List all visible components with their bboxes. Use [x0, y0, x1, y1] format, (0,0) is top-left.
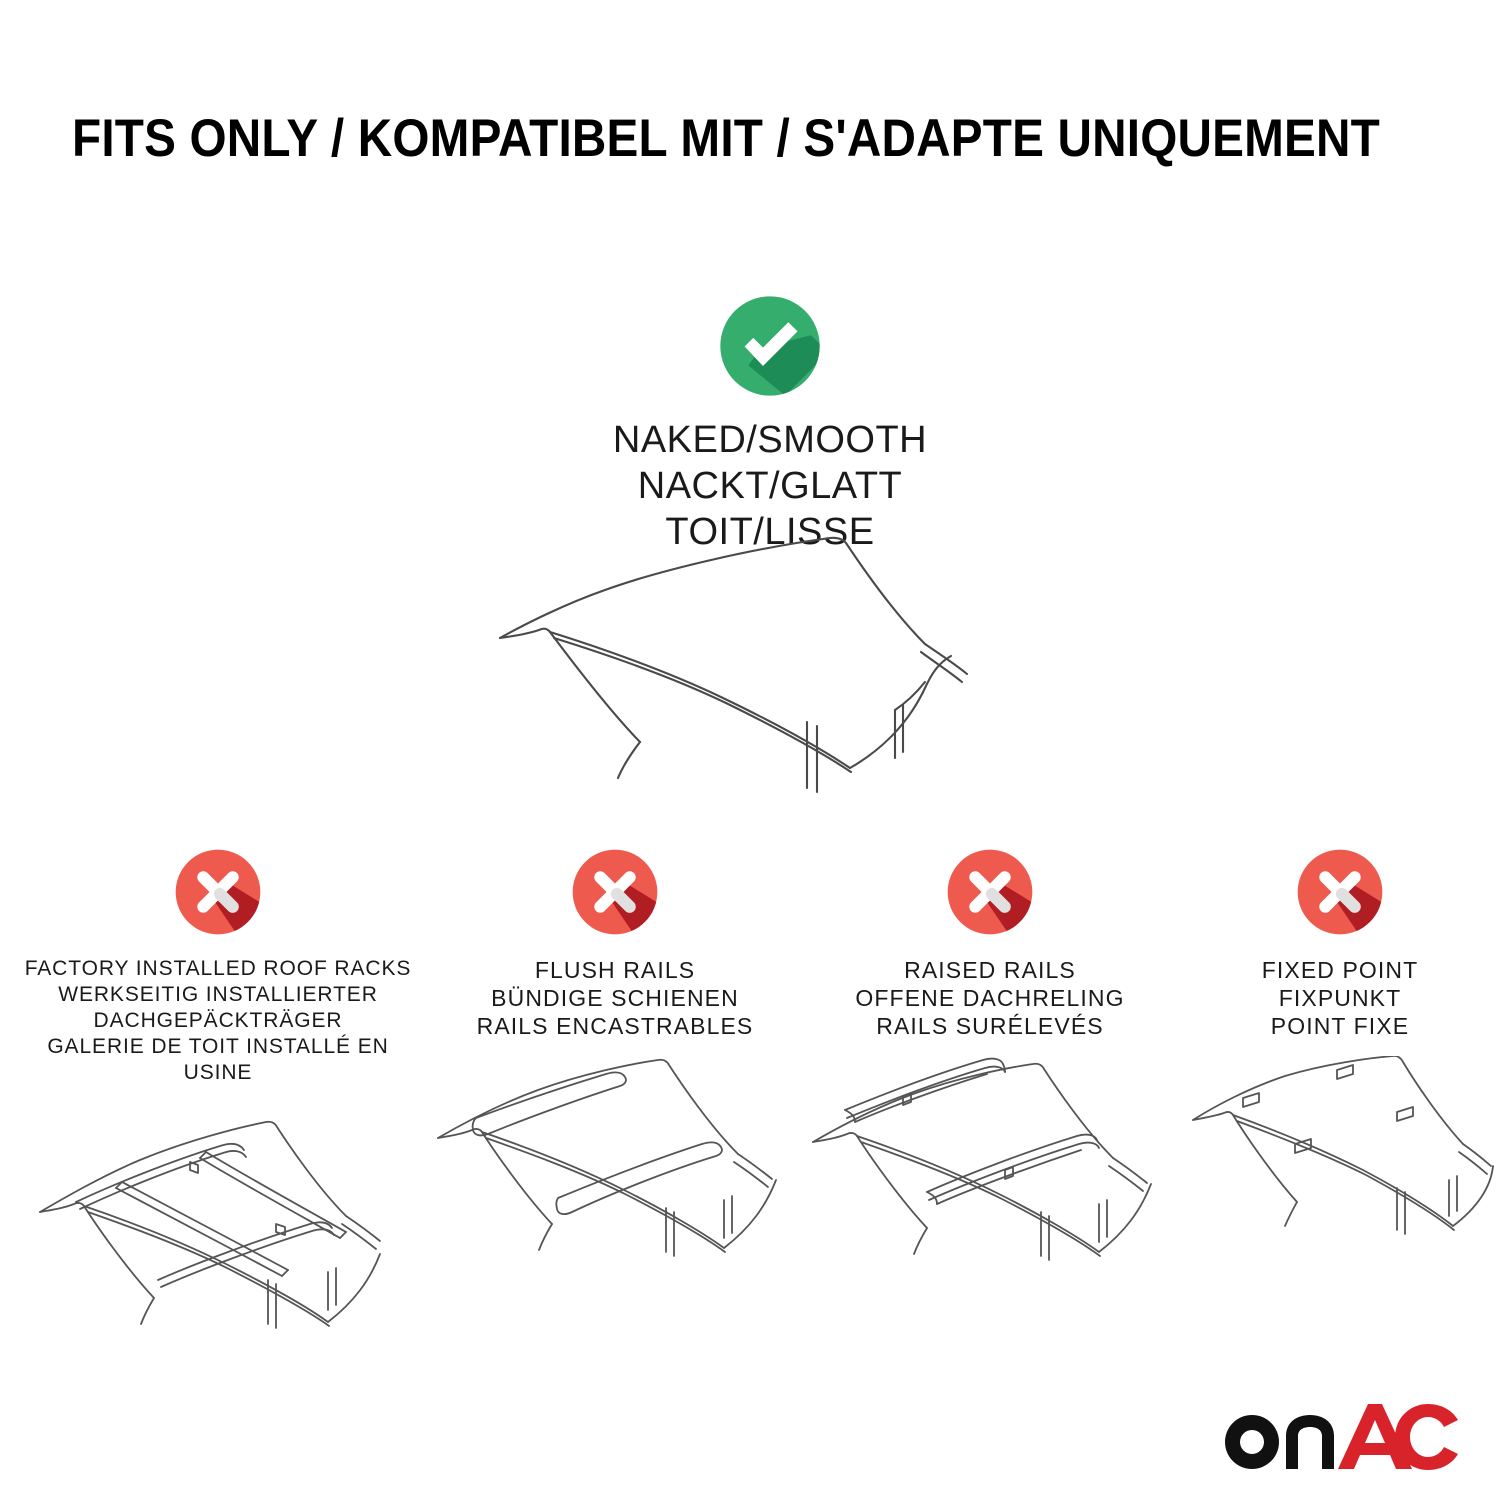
car-roof-flush-rails-illustration	[430, 1056, 800, 1286]
car-roof-factory-rack-illustration	[18, 1102, 418, 1332]
red-x-circle-icon	[172, 846, 264, 938]
red-x-circle-icon	[944, 846, 1036, 938]
red-x-circle-icon	[569, 846, 661, 938]
label-en: FIXED POINT	[1185, 956, 1495, 984]
red-x-circle-icon	[1294, 846, 1386, 938]
incompatible-item-flush-rails: FLUSH RAILS BÜNDIGE SCHIENEN RAILS ENCAS…	[430, 846, 800, 1286]
incompatible-labels-factory-rack: FACTORY INSTALLED ROOF RACKS WERKSEITIG …	[18, 956, 418, 1086]
label-fr: RAILS SURÉLEVÉS	[805, 1012, 1175, 1040]
label-de: OFFENE DACHRELING	[805, 984, 1175, 1012]
incompatible-item-raised-rails: RAISED RAILS OFFENE DACHRELING RAILS SUR…	[805, 846, 1175, 1286]
incompatible-item-fixed-point: FIXED POINT FIXPUNKT POINT FIXE	[1185, 846, 1495, 1286]
incompatible-labels-raised-rails: RAISED RAILS OFFENE DACHRELING RAILS SUR…	[805, 956, 1175, 1040]
label-de-2: DACHGEPÄCKTRÄGER	[18, 1008, 418, 1034]
incompatible-section: FACTORY INSTALLED ROOF RACKS WERKSEITIG …	[0, 846, 1500, 1486]
label-en: FLUSH RAILS	[430, 956, 800, 984]
compatible-section: NAKED/SMOOTH NACKT/GLATT TOIT/LISSE	[470, 292, 1070, 555]
incompatible-labels-fixed-point: FIXED POINT FIXPUNKT POINT FIXE	[1185, 956, 1495, 1040]
label-en: FACTORY INSTALLED ROOF RACKS	[18, 956, 418, 982]
label-fr: POINT FIXE	[1185, 1012, 1495, 1040]
compatible-label-de: NACKT/GLATT	[470, 463, 1070, 509]
label-de: FIXPUNKT	[1185, 984, 1495, 1012]
label-fr: GALERIE DE TOIT INSTALLÉ EN USINE	[18, 1034, 418, 1086]
incompatible-item-factory-rack: FACTORY INSTALLED ROOF RACKS WERKSEITIG …	[18, 846, 418, 1332]
incompatible-labels-flush-rails: FLUSH RAILS BÜNDIGE SCHIENEN RAILS ENCAS…	[430, 956, 800, 1040]
label-de: BÜNDIGE SCHIENEN	[430, 984, 800, 1012]
green-check-circle-icon	[716, 292, 824, 400]
label-en: RAISED RAILS	[805, 956, 1175, 984]
omac-logo	[1222, 1400, 1460, 1472]
compatible-label-en: NAKED/SMOOTH	[470, 417, 1070, 463]
car-roof-fixed-point-illustration	[1185, 1056, 1495, 1286]
car-roof-raised-rails-illustration	[805, 1056, 1175, 1286]
car-roof-naked-smooth-illustration	[455, 520, 1075, 820]
page-title: FITS ONLY / KOMPATIBEL MIT / S'ADAPTE UN…	[72, 108, 1296, 170]
label-de-1: WERKSEITIG INSTALLIERTER	[18, 982, 418, 1008]
label-fr: RAILS ENCASTRABLES	[430, 1012, 800, 1040]
